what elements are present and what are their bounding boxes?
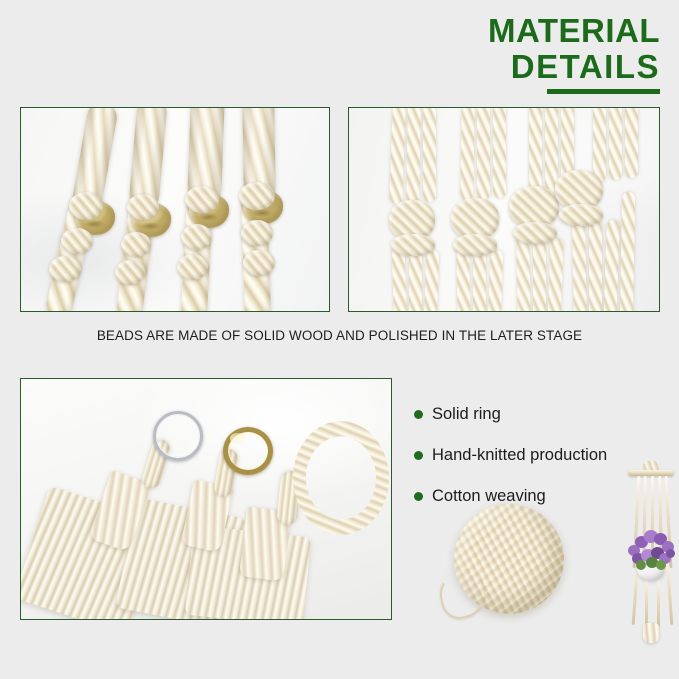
list-item: Solid ring xyxy=(414,405,664,424)
planter-bottom-tassel xyxy=(643,623,659,643)
bullet-dot-icon xyxy=(414,410,423,419)
page-title: MATERIAL DETAILS xyxy=(488,14,660,94)
cotton-yarn-ball-image xyxy=(440,500,568,628)
infographic-page: MATERIAL DETAILS xyxy=(0,0,679,679)
purple-flowers xyxy=(626,527,676,569)
feature-label: Solid ring xyxy=(432,405,501,424)
macrame-hanging-planter-image xyxy=(623,455,679,655)
title-line-secondary: DETAILS xyxy=(488,50,660,83)
photo-macrame-light-beads xyxy=(21,108,329,311)
photo-panel-hanger-tops xyxy=(20,378,392,620)
silver-ring xyxy=(153,411,203,461)
photo-macrame-red-beads xyxy=(349,108,659,311)
feature-label: Hand-knitted production xyxy=(432,446,607,465)
photo-hanger-ring-types xyxy=(21,379,391,619)
photo-panel-beads-light xyxy=(20,107,330,312)
bullet-dot-icon xyxy=(414,451,423,460)
title-underline xyxy=(547,89,660,94)
beads-caption: BEADS ARE MADE OF SOLID WOOD AND POLISHE… xyxy=(0,328,679,343)
photo-panel-beads-dark xyxy=(348,107,660,312)
brass-ring xyxy=(223,427,273,475)
cotton-loop xyxy=(293,421,389,535)
title-line-primary: MATERIAL xyxy=(488,14,660,47)
bullet-dot-icon xyxy=(414,492,423,501)
